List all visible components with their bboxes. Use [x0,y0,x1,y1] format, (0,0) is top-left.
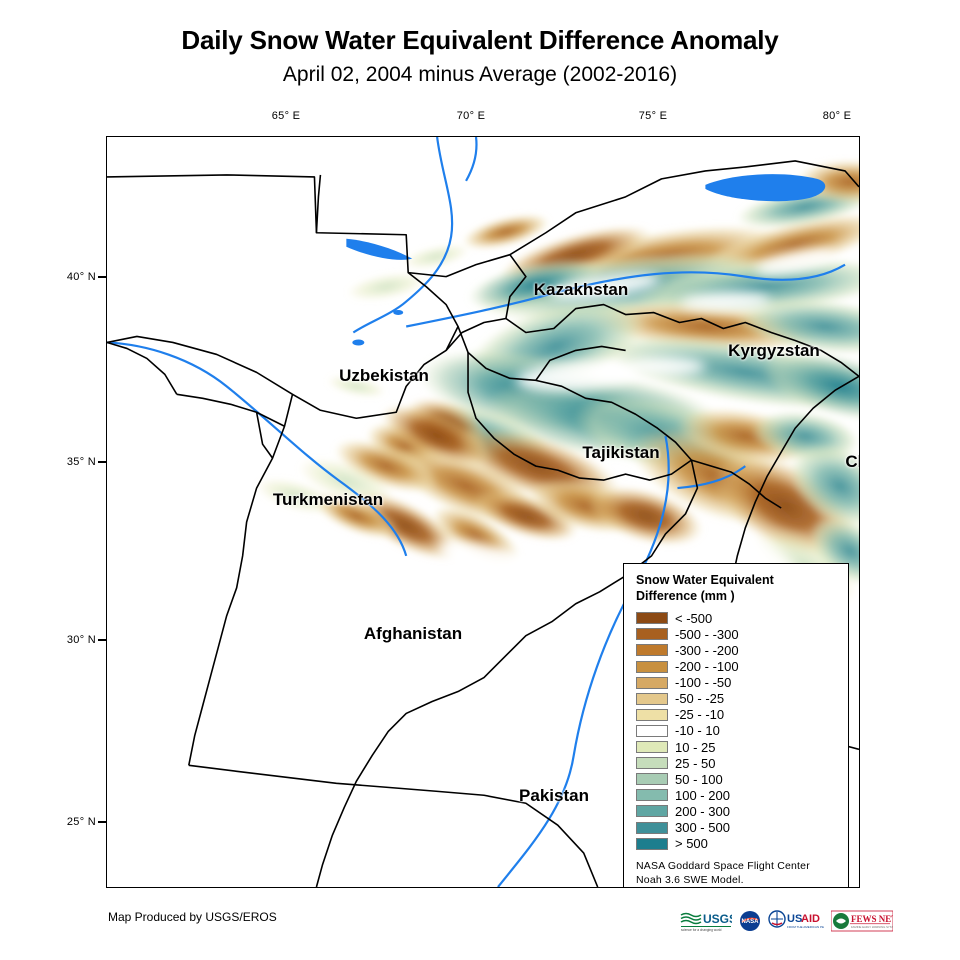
legend-label: -500 - -300 [675,628,739,641]
legend-source-note: NASA Goddard Space Flight Center Noah 3.… [636,859,838,887]
legend-items: < -500-500 - -300-300 - -200-200 - -100-… [636,610,838,851]
legend-label: -50 - -25 [675,692,724,705]
legend-row: 10 - 25 [636,739,838,755]
legend-row: 300 - 500 [636,819,838,835]
legend-label: -200 - -100 [675,660,739,673]
svg-text:FROM THE AMERICAN PEOPLE: FROM THE AMERICAN PEOPLE [787,925,824,929]
legend-swatch [636,644,668,656]
legend-title-line1: Snow Water Equivalent [636,573,774,587]
usgs-logo: USGS science for a changing world [680,910,732,932]
svg-text:USGS: USGS [703,912,732,926]
logo-strip: USGS science for a changing world NASA U… [680,908,893,934]
nasa-logo: NASA [739,910,761,932]
page-title: Daily Snow Water Equivalent Difference A… [0,26,960,55]
svg-text:FAMINE EARLY WARNING SYSTEMS N: FAMINE EARLY WARNING SYSTEMS NETWORK [851,925,893,929]
svg-text:science for a changing world: science for a changing world [681,928,722,932]
legend-label: > 500 [675,837,708,850]
legend-row: 100 - 200 [636,787,838,803]
svg-text:FEWS NET: FEWS NET [851,914,893,924]
lat-tick-label: 30° N [67,634,96,646]
legend-swatch [636,789,668,801]
lon-tick-label: 80° E [823,110,852,122]
legend-row: > 500 [636,836,838,852]
legend-note-line2: Noah 3.6 SWE Model. [636,874,744,886]
map-legend[interactable]: Snow Water Equivalent Difference (mm ) <… [623,563,849,888]
legend-row: -200 - -100 [636,659,838,675]
legend-label: -100 - -50 [675,676,731,689]
legend-swatch [636,838,668,850]
legend-swatch [636,661,668,673]
lon-tick-label: 75° E [639,110,668,122]
usaid-logo: US AID FROM THE AMERICAN PEOPLE [768,910,824,932]
lat-tick-label: 35° N [67,456,96,468]
legend-row: -300 - -200 [636,642,838,658]
svg-text:NASA: NASA [741,919,759,925]
legend-swatch [636,725,668,737]
legend-label: < -500 [675,612,712,625]
legend-swatch [636,709,668,721]
legend-swatch [636,757,668,769]
legend-label: 100 - 200 [675,789,730,802]
title-block: Daily Snow Water Equivalent Difference A… [0,26,960,86]
legend-row: -10 - 10 [636,723,838,739]
map-frame[interactable]: KazakhstanUzbekistanKyrgyzstanTajikistan… [106,136,860,888]
svg-text:AID: AID [801,913,820,925]
legend-row: 50 - 100 [636,771,838,787]
page-subtitle: April 02, 2004 minus Average (2002-2016) [0,63,960,86]
legend-title-line2: Difference (mm ) [636,589,735,603]
legend-label: 25 - 50 [675,757,715,770]
legend-label: 10 - 25 [675,741,715,754]
legend-swatch [636,822,668,834]
legend-swatch [636,693,668,705]
legend-row: 200 - 300 [636,803,838,819]
legend-row: -25 - -10 [636,707,838,723]
footer-credit: Map Produced by USGS/EROS [108,910,277,924]
svg-text:US: US [787,913,802,925]
legend-label: 200 - 300 [675,805,730,818]
legend-label: -10 - 10 [675,724,720,737]
lon-tick-label: 70° E [457,110,486,122]
legend-swatch [636,741,668,753]
legend-label: 300 - 500 [675,821,730,834]
legend-label: -25 - -10 [675,708,724,721]
legend-swatch [636,773,668,785]
fewsnet-logo: FEWS NET FAMINE EARLY WARNING SYSTEMS NE… [831,910,893,932]
lat-tick-label: 25° N [67,816,96,828]
legend-row: -500 - -300 [636,626,838,642]
legend-row: -100 - -50 [636,675,838,691]
legend-note-line1: NASA Goddard Space Flight Center [636,860,810,872]
legend-label: -300 - -200 [675,644,739,657]
legend-title: Snow Water Equivalent Difference (mm ) [636,573,838,604]
legend-row: -50 - -25 [636,691,838,707]
legend-row: 25 - 50 [636,755,838,771]
lon-tick-label: 65° E [272,110,301,122]
legend-label: 50 - 100 [675,773,723,786]
legend-row: < -500 [636,610,838,626]
legend-swatch [636,677,668,689]
lat-tick-label: 40° N [67,271,96,283]
legend-swatch [636,628,668,640]
legend-swatch [636,805,668,817]
legend-swatch [636,612,668,624]
